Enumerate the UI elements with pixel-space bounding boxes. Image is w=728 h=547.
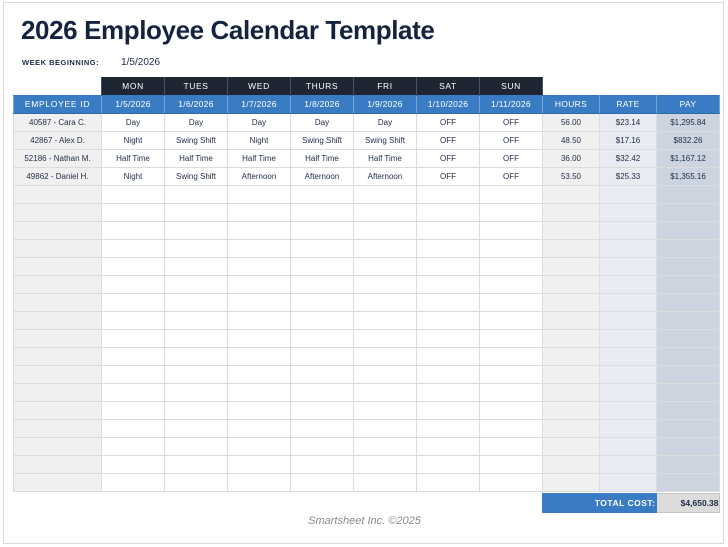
cell-hours[interactable] xyxy=(543,383,600,401)
cell-shift-day-3[interactable]: Half Time xyxy=(228,149,291,167)
cell-shift-day-5[interactable] xyxy=(354,329,417,347)
cell-shift-day-2[interactable] xyxy=(165,455,228,473)
cell-shift-day-1[interactable] xyxy=(102,185,165,203)
cell-shift-day-4[interactable] xyxy=(291,383,354,401)
table-row-empty xyxy=(14,221,720,239)
cell-shift-day-1[interactable]: Night xyxy=(102,131,165,149)
cell-hours[interactable]: 48.50 xyxy=(543,131,600,149)
cell-shift-day-7[interactable] xyxy=(480,185,543,203)
cell-shift-day-1[interactable] xyxy=(102,239,165,257)
cell-shift-day-7[interactable] xyxy=(480,311,543,329)
cell-shift-day-1[interactable] xyxy=(102,203,165,221)
cell-shift-day-2[interactable] xyxy=(165,293,228,311)
cell-shift-day-3[interactable]: Afternoon xyxy=(228,167,291,185)
cell-shift-day-3[interactable]: Day xyxy=(228,113,291,131)
cell-shift-day-1[interactable] xyxy=(102,221,165,239)
cell-shift-day-7[interactable] xyxy=(480,419,543,437)
table-row-empty xyxy=(14,275,720,293)
cell-hours[interactable] xyxy=(543,401,600,419)
cell-shift-day-6[interactable] xyxy=(417,455,480,473)
cell-shift-day-4[interactable] xyxy=(291,473,354,491)
cell-employee-id[interactable] xyxy=(14,257,102,275)
cell-pay xyxy=(657,473,720,491)
cell-shift-day-5[interactable] xyxy=(354,311,417,329)
cell-hours[interactable] xyxy=(543,329,600,347)
cell-pay xyxy=(657,329,720,347)
cell-shift-day-4[interactable] xyxy=(291,365,354,383)
cell-hours[interactable] xyxy=(543,203,600,221)
total-spacer-5 xyxy=(290,494,353,513)
cell-employee-id[interactable] xyxy=(14,293,102,311)
cell-shift-day-7[interactable] xyxy=(480,365,543,383)
cell-shift-day-4[interactable]: Swing Shift xyxy=(291,131,354,149)
cell-shift-day-1[interactable] xyxy=(102,419,165,437)
cell-shift-day-1[interactable] xyxy=(102,293,165,311)
schedule-table-head: MON TUES WED THURS FRI SAT SUN EMPLOYEE … xyxy=(14,77,720,113)
column-header-date-1[interactable]: 1/5/2026 xyxy=(102,95,165,113)
cell-shift-day-1[interactable] xyxy=(102,311,165,329)
cell-shift-day-5[interactable] xyxy=(354,185,417,203)
total-cost-row: TOTAL COST: $4,650.38 xyxy=(13,494,719,513)
cell-shift-day-2[interactable]: Day xyxy=(165,113,228,131)
table-row-empty xyxy=(14,437,720,455)
day-header-mon: MON xyxy=(102,77,165,95)
cell-shift-day-4[interactable] xyxy=(291,203,354,221)
table-row-empty xyxy=(14,203,720,221)
cell-shift-day-6[interactable] xyxy=(417,383,480,401)
cell-shift-day-7[interactable] xyxy=(480,401,543,419)
table-row-empty xyxy=(14,401,720,419)
cell-shift-day-4[interactable]: Afternoon xyxy=(291,167,354,185)
cell-shift-day-1[interactable] xyxy=(102,455,165,473)
cell-pay xyxy=(657,257,720,275)
cell-shift-day-6[interactable] xyxy=(417,329,480,347)
cell-shift-day-5[interactable] xyxy=(354,365,417,383)
cell-shift-day-5[interactable]: Half Time xyxy=(354,149,417,167)
table-row-empty xyxy=(14,383,720,401)
cell-employee-id[interactable] xyxy=(14,401,102,419)
cell-shift-day-5[interactable] xyxy=(354,437,417,455)
schedule-table-body: 40587 - Cara C.DayDayDayDayDayOFFOFF56.0… xyxy=(14,113,720,491)
cell-shift-day-4[interactable]: Half Time xyxy=(291,149,354,167)
cell-hours[interactable] xyxy=(543,311,600,329)
cell-shift-day-5[interactable] xyxy=(354,293,417,311)
day-header-tues: TUES xyxy=(165,77,228,95)
cell-shift-day-7[interactable] xyxy=(480,437,543,455)
cell-shift-day-6[interactable] xyxy=(417,365,480,383)
day-header-spacer xyxy=(14,77,102,95)
cell-shift-day-2[interactable]: Swing Shift xyxy=(165,131,228,149)
table-row-empty xyxy=(14,455,720,473)
cell-hours[interactable] xyxy=(543,419,600,437)
cell-rate[interactable] xyxy=(600,311,657,329)
table-row: 49862 - Daniel H.NightSwing ShiftAfterno… xyxy=(14,167,720,185)
cell-shift-day-3[interactable] xyxy=(228,203,291,221)
cell-shift-day-3[interactable] xyxy=(228,185,291,203)
cell-rate[interactable] xyxy=(600,437,657,455)
week-beginning-label: WEEK BEGINNING: xyxy=(22,58,99,67)
cell-employee-id[interactable] xyxy=(14,347,102,365)
week-beginning-row: WEEK BEGINNING: 1/5/2026 xyxy=(22,57,160,68)
cell-hours[interactable] xyxy=(543,257,600,275)
cell-shift-day-2[interactable] xyxy=(165,419,228,437)
cell-hours[interactable] xyxy=(543,473,600,491)
total-cost-table: TOTAL COST: $4,650.38 xyxy=(13,493,720,513)
total-spacer-4 xyxy=(227,494,290,513)
cell-shift-day-1[interactable] xyxy=(102,437,165,455)
table-row-empty xyxy=(14,185,720,203)
cell-hours[interactable]: 53.50 xyxy=(543,167,600,185)
day-header-spacer-pay xyxy=(657,77,720,95)
cell-shift-day-3[interactable] xyxy=(228,473,291,491)
cell-shift-day-7[interactable] xyxy=(480,383,543,401)
cell-shift-day-7[interactable] xyxy=(480,347,543,365)
column-header-rate[interactable]: RATE xyxy=(600,95,657,113)
cell-rate[interactable] xyxy=(600,221,657,239)
cell-rate[interactable] xyxy=(600,473,657,491)
cell-shift-day-3[interactable] xyxy=(228,437,291,455)
cell-shift-day-3[interactable] xyxy=(228,365,291,383)
cell-hours[interactable] xyxy=(543,221,600,239)
cell-rate[interactable] xyxy=(600,203,657,221)
cell-shift-day-4[interactable] xyxy=(291,311,354,329)
cell-shift-day-1[interactable] xyxy=(102,473,165,491)
cell-pay xyxy=(657,437,720,455)
cell-shift-day-2[interactable] xyxy=(165,365,228,383)
cell-shift-day-6[interactable] xyxy=(417,275,480,293)
cell-hours[interactable] xyxy=(543,275,600,293)
cell-employee-id[interactable] xyxy=(14,239,102,257)
cell-rate[interactable] xyxy=(600,329,657,347)
cell-hours[interactable] xyxy=(543,437,600,455)
cell-shift-day-6[interactable]: OFF xyxy=(417,149,480,167)
day-header-sun: SUN xyxy=(480,77,543,95)
table-row-empty xyxy=(14,293,720,311)
cell-shift-day-2[interactable] xyxy=(165,275,228,293)
cell-hours[interactable] xyxy=(543,347,600,365)
cell-shift-day-6[interactable]: OFF xyxy=(417,131,480,149)
cell-rate[interactable] xyxy=(600,293,657,311)
cell-shift-day-7[interactable] xyxy=(480,221,543,239)
cell-shift-day-6[interactable] xyxy=(417,221,480,239)
cell-shift-day-5[interactable] xyxy=(354,257,417,275)
cell-shift-day-7[interactable] xyxy=(480,203,543,221)
schedule-table: MON TUES WED THURS FRI SAT SUN EMPLOYEE … xyxy=(13,77,720,492)
week-beginning-value[interactable]: 1/5/2026 xyxy=(121,57,160,68)
cell-pay xyxy=(657,221,720,239)
cell-shift-day-5[interactable] xyxy=(354,473,417,491)
cell-shift-day-1[interactable] xyxy=(102,365,165,383)
cell-employee-id[interactable]: 42867 - Alex D. xyxy=(14,131,102,149)
table-row-empty xyxy=(14,473,720,491)
cell-employee-id[interactable] xyxy=(14,203,102,221)
cell-shift-day-4[interactable] xyxy=(291,419,354,437)
cell-pay xyxy=(657,455,720,473)
cell-shift-day-2[interactable] xyxy=(165,203,228,221)
cell-shift-day-6[interactable] xyxy=(417,437,480,455)
cell-shift-day-5[interactable] xyxy=(354,383,417,401)
cell-shift-day-7[interactable]: OFF xyxy=(480,131,543,149)
cell-shift-day-7[interactable]: OFF xyxy=(480,113,543,131)
table-row-empty xyxy=(14,365,720,383)
column-header-date-4[interactable]: 1/8/2026 xyxy=(291,95,354,113)
footer-credit: Smartsheet Inc. ©2025 xyxy=(4,515,724,527)
column-header-hours[interactable]: HOURS xyxy=(543,95,600,113)
cell-shift-day-1[interactable] xyxy=(102,383,165,401)
cell-shift-day-4[interactable] xyxy=(291,221,354,239)
cell-shift-day-1[interactable]: Half Time xyxy=(102,149,165,167)
cell-pay xyxy=(657,311,720,329)
cell-shift-day-5[interactable] xyxy=(354,347,417,365)
total-spacer-7 xyxy=(416,494,479,513)
cell-rate[interactable]: $25.33 xyxy=(600,167,657,185)
cell-shift-day-4[interactable] xyxy=(291,347,354,365)
table-row: 40587 - Cara C.DayDayDayDayDayOFFOFF56.0… xyxy=(14,113,720,131)
total-spacer-6 xyxy=(353,494,416,513)
column-header-employee-id[interactable]: EMPLOYEE ID xyxy=(14,95,102,113)
table-row-empty xyxy=(14,311,720,329)
cell-shift-day-3[interactable] xyxy=(228,257,291,275)
total-spacer-1 xyxy=(13,494,101,513)
cell-rate[interactable] xyxy=(600,455,657,473)
column-header-date-6[interactable]: 1/10/2026 xyxy=(417,95,480,113)
cell-shift-day-4[interactable] xyxy=(291,257,354,275)
cell-rate[interactable] xyxy=(600,419,657,437)
cell-shift-day-4[interactable]: Day xyxy=(291,113,354,131)
schedule-table-wrapper: MON TUES WED THURS FRI SAT SUN EMPLOYEE … xyxy=(13,77,719,492)
cell-shift-day-1[interactable] xyxy=(102,329,165,347)
day-header-fri: FRI xyxy=(354,77,417,95)
cell-rate[interactable] xyxy=(600,383,657,401)
cell-employee-id[interactable] xyxy=(14,311,102,329)
cell-shift-day-2[interactable] xyxy=(165,437,228,455)
column-header-pay[interactable]: PAY xyxy=(657,95,720,113)
column-header-date-7[interactable]: 1/11/2026 xyxy=(480,95,543,113)
cell-shift-day-5[interactable] xyxy=(354,239,417,257)
table-row-empty xyxy=(14,329,720,347)
table-row: 52186 - Nathan M.Half TimeHalf TimeHalf … xyxy=(14,149,720,167)
cell-pay xyxy=(657,419,720,437)
cell-pay xyxy=(657,383,720,401)
cell-pay: $1,355.16 xyxy=(657,167,720,185)
cell-shift-day-4[interactable] xyxy=(291,275,354,293)
cell-shift-day-6[interactable] xyxy=(417,257,480,275)
cell-shift-day-3[interactable] xyxy=(228,383,291,401)
cell-shift-day-2[interactable] xyxy=(165,311,228,329)
cell-shift-day-7[interactable] xyxy=(480,455,543,473)
cell-shift-day-7[interactable] xyxy=(480,329,543,347)
cell-shift-day-7[interactable] xyxy=(480,293,543,311)
cell-shift-day-5[interactable]: Day xyxy=(354,113,417,131)
cell-shift-day-1[interactable]: Night xyxy=(102,167,165,185)
cell-shift-day-4[interactable] xyxy=(291,455,354,473)
cell-shift-day-7[interactable] xyxy=(480,239,543,257)
table-row-empty xyxy=(14,347,720,365)
column-header-date-3[interactable]: 1/7/2026 xyxy=(228,95,291,113)
cell-shift-day-2[interactable]: Half Time xyxy=(165,149,228,167)
column-header-date-2[interactable]: 1/6/2026 xyxy=(165,95,228,113)
cell-shift-day-2[interactable] xyxy=(165,473,228,491)
day-name-header-row: MON TUES WED THURS FRI SAT SUN xyxy=(14,77,720,95)
cell-shift-day-4[interactable] xyxy=(291,185,354,203)
cell-rate[interactable] xyxy=(600,185,657,203)
cell-pay xyxy=(657,365,720,383)
total-spacer-8 xyxy=(479,494,542,513)
cell-shift-day-7[interactable] xyxy=(480,473,543,491)
total-cost-wrapper: TOTAL COST: $4,650.38 xyxy=(13,493,719,513)
cell-shift-day-3[interactable] xyxy=(228,239,291,257)
cell-shift-day-2[interactable] xyxy=(165,239,228,257)
cell-hours[interactable] xyxy=(543,239,600,257)
cell-pay xyxy=(657,293,720,311)
total-spacer-3 xyxy=(164,494,227,513)
cell-employee-id[interactable] xyxy=(14,365,102,383)
cell-pay xyxy=(657,185,720,203)
cell-shift-day-3[interactable] xyxy=(228,221,291,239)
table-row: 42867 - Alex D.NightSwing ShiftNightSwin… xyxy=(14,131,720,149)
table-row-empty xyxy=(14,257,720,275)
cell-shift-day-2[interactable] xyxy=(165,185,228,203)
total-cost-value: $4,650.38 xyxy=(656,494,719,513)
cell-hours[interactable] xyxy=(543,455,600,473)
cell-shift-day-6[interactable] xyxy=(417,185,480,203)
cell-shift-day-4[interactable] xyxy=(291,293,354,311)
cell-shift-day-2[interactable] xyxy=(165,221,228,239)
cell-shift-day-1[interactable] xyxy=(102,257,165,275)
cell-employee-id[interactable] xyxy=(14,455,102,473)
template-page: 2026 Employee Calendar Template WEEK BEG… xyxy=(3,2,724,544)
cell-shift-day-6[interactable] xyxy=(417,473,480,491)
cell-pay xyxy=(657,239,720,257)
cell-shift-day-6[interactable] xyxy=(417,401,480,419)
cell-hours[interactable] xyxy=(543,293,600,311)
cell-shift-day-5[interactable] xyxy=(354,275,417,293)
page-title: 2026 Employee Calendar Template xyxy=(21,15,434,46)
cell-shift-day-3[interactable] xyxy=(228,275,291,293)
cell-shift-day-5[interactable]: Afternoon xyxy=(354,167,417,185)
cell-shift-day-1[interactable] xyxy=(102,275,165,293)
cell-shift-day-6[interactable] xyxy=(417,239,480,257)
cell-employee-id[interactable] xyxy=(14,473,102,491)
column-header-row: EMPLOYEE ID 1/5/2026 1/6/2026 1/7/2026 1… xyxy=(14,95,720,113)
column-header-date-5[interactable]: 1/9/2026 xyxy=(354,95,417,113)
cell-shift-day-4[interactable] xyxy=(291,401,354,419)
day-header-sat: SAT xyxy=(417,77,480,95)
cell-hours[interactable]: 36.00 xyxy=(543,149,600,167)
cell-shift-day-1[interactable] xyxy=(102,401,165,419)
cell-shift-day-1[interactable]: Day xyxy=(102,113,165,131)
cell-shift-day-6[interactable] xyxy=(417,203,480,221)
cell-shift-day-2[interactable] xyxy=(165,329,228,347)
cell-rate[interactable] xyxy=(600,365,657,383)
cell-shift-day-4[interactable] xyxy=(291,437,354,455)
cell-rate[interactable] xyxy=(600,275,657,293)
cell-shift-day-2[interactable] xyxy=(165,401,228,419)
cell-shift-day-2[interactable] xyxy=(165,347,228,365)
table-row-empty xyxy=(14,419,720,437)
cell-shift-day-5[interactable] xyxy=(354,203,417,221)
day-header-wed: WED xyxy=(228,77,291,95)
cell-pay xyxy=(657,275,720,293)
cell-employee-id[interactable] xyxy=(14,275,102,293)
cell-shift-day-4[interactable] xyxy=(291,329,354,347)
cell-rate[interactable]: $32.42 xyxy=(600,149,657,167)
cell-hours[interactable] xyxy=(543,365,600,383)
cell-employee-id[interactable]: 40587 - Cara C. xyxy=(14,113,102,131)
cell-shift-day-3[interactable] xyxy=(228,329,291,347)
cell-pay xyxy=(657,203,720,221)
cell-pay xyxy=(657,347,720,365)
cell-shift-day-2[interactable] xyxy=(165,257,228,275)
cell-hours[interactable] xyxy=(543,185,600,203)
cell-rate[interactable] xyxy=(600,257,657,275)
day-header-spacer-rate xyxy=(600,77,657,95)
cell-shift-day-6[interactable]: OFF xyxy=(417,113,480,131)
cell-shift-day-6[interactable]: OFF xyxy=(417,167,480,185)
cell-shift-day-3[interactable] xyxy=(228,455,291,473)
cell-shift-day-7[interactable]: OFF xyxy=(480,149,543,167)
cell-shift-day-6[interactable] xyxy=(417,347,480,365)
cell-shift-day-5[interactable] xyxy=(354,401,417,419)
cell-shift-day-7[interactable]: OFF xyxy=(480,167,543,185)
cell-shift-day-1[interactable] xyxy=(102,347,165,365)
cell-shift-day-5[interactable]: Swing Shift xyxy=(354,131,417,149)
cell-rate[interactable]: $17.16 xyxy=(600,131,657,149)
cell-shift-day-6[interactable] xyxy=(417,311,480,329)
cell-shift-day-3[interactable]: Night xyxy=(228,131,291,149)
cell-pay: $1,167.12 xyxy=(657,149,720,167)
cell-rate[interactable] xyxy=(600,239,657,257)
cell-pay xyxy=(657,401,720,419)
cell-shift-day-5[interactable] xyxy=(354,221,417,239)
cell-shift-day-4[interactable] xyxy=(291,239,354,257)
day-header-thurs: THURS xyxy=(291,77,354,95)
cell-employee-id[interactable] xyxy=(14,329,102,347)
cell-shift-day-3[interactable] xyxy=(228,419,291,437)
total-spacer-2 xyxy=(101,494,164,513)
total-cost-label: TOTAL COST: xyxy=(542,494,656,513)
cell-employee-id[interactable] xyxy=(14,419,102,437)
cell-rate[interactable]: $23.14 xyxy=(600,113,657,131)
cell-shift-day-3[interactable] xyxy=(228,311,291,329)
cell-shift-day-6[interactable] xyxy=(417,419,480,437)
cell-shift-day-2[interactable] xyxy=(165,383,228,401)
table-row-empty xyxy=(14,239,720,257)
cell-shift-day-5[interactable] xyxy=(354,419,417,437)
cell-rate[interactable] xyxy=(600,401,657,419)
cell-shift-day-7[interactable] xyxy=(480,257,543,275)
cell-pay: $832.26 xyxy=(657,131,720,149)
cell-employee-id[interactable]: 49862 - Daniel H. xyxy=(14,167,102,185)
cell-shift-day-5[interactable] xyxy=(354,455,417,473)
day-header-spacer-hours xyxy=(543,77,600,95)
cell-employee-id[interactable] xyxy=(14,383,102,401)
cell-employee-id[interactable]: 52186 - Nathan M. xyxy=(14,149,102,167)
cell-shift-day-3[interactable] xyxy=(228,347,291,365)
cell-pay: $1,295.84 xyxy=(657,113,720,131)
cell-shift-day-6[interactable] xyxy=(417,293,480,311)
cell-employee-id[interactable] xyxy=(14,185,102,203)
cell-shift-day-2[interactable]: Swing Shift xyxy=(165,167,228,185)
cell-hours[interactable]: 56.00 xyxy=(543,113,600,131)
cell-employee-id[interactable] xyxy=(14,221,102,239)
cell-employee-id[interactable] xyxy=(14,437,102,455)
cell-shift-day-3[interactable] xyxy=(228,293,291,311)
cell-shift-day-3[interactable] xyxy=(228,401,291,419)
cell-rate[interactable] xyxy=(600,347,657,365)
cell-shift-day-7[interactable] xyxy=(480,275,543,293)
